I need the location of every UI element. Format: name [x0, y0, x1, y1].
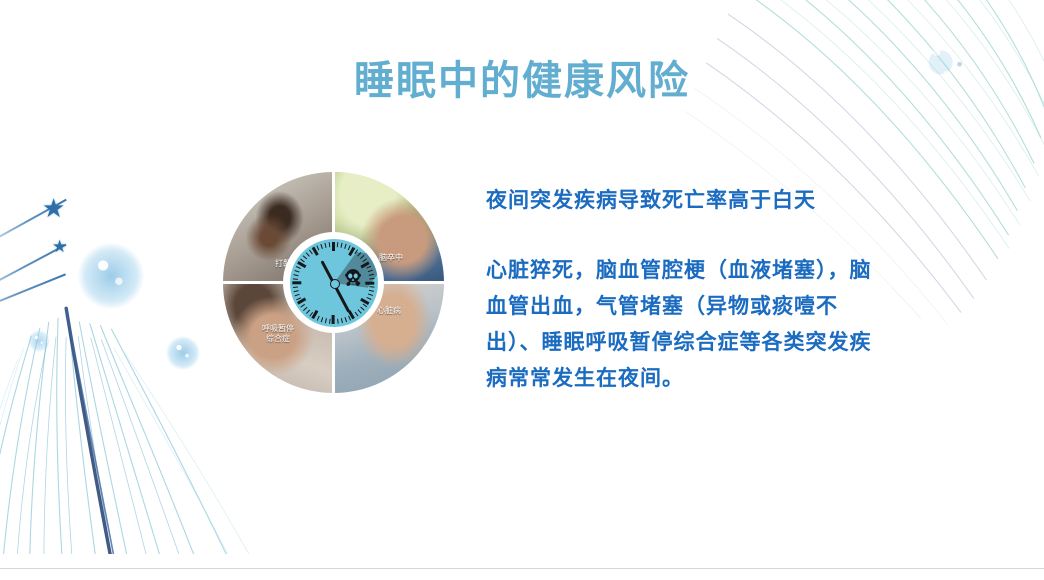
- detail-paragraph: 心脏猝死，脑血管腔梗（血液堵塞），脑血管出血，气管堵塞（异物或痰噎不出）、睡眠呼…: [486, 253, 886, 397]
- page-divider: [0, 568, 1044, 569]
- page-title: 睡眠中的健康风险: [0, 48, 1044, 106]
- below-slide-area: [0, 554, 1044, 580]
- skull-and-crossbones-icon: [342, 267, 364, 289]
- streak-line: [0, 244, 66, 302]
- body-text-block: 夜间突发疾病导致死亡率高于白天 心脏猝死，脑血管腔梗（血液堵塞），脑血管出血，气…: [486, 183, 886, 397]
- health-risk-collage: 打鼾 脑卒中 呼吸暂停 综合症 心脏病: [223, 172, 444, 393]
- streak-line: [0, 199, 67, 254]
- star-icon: ★: [52, 238, 67, 255]
- slide-canvas: ★ ★ 睡眠中的健康风险 打鼾 脑卒中 呼吸暂停 综合症 心脏病: [0, 0, 1044, 554]
- clock-pivot: [330, 279, 340, 289]
- lead-statement: 夜间突发疾病导致死亡率高于白天: [486, 183, 886, 219]
- dandelion-puff-icon: [166, 336, 200, 370]
- dandelion-puff-icon: [78, 243, 144, 309]
- center-clock: [283, 232, 384, 333]
- star-icon: ★: [42, 195, 65, 221]
- streak-line: [0, 273, 66, 323]
- dandelion-puff-icon: [28, 330, 50, 352]
- collage-label-apnea: 呼吸暂停 综合症: [245, 324, 311, 344]
- clock-face: [290, 239, 378, 327]
